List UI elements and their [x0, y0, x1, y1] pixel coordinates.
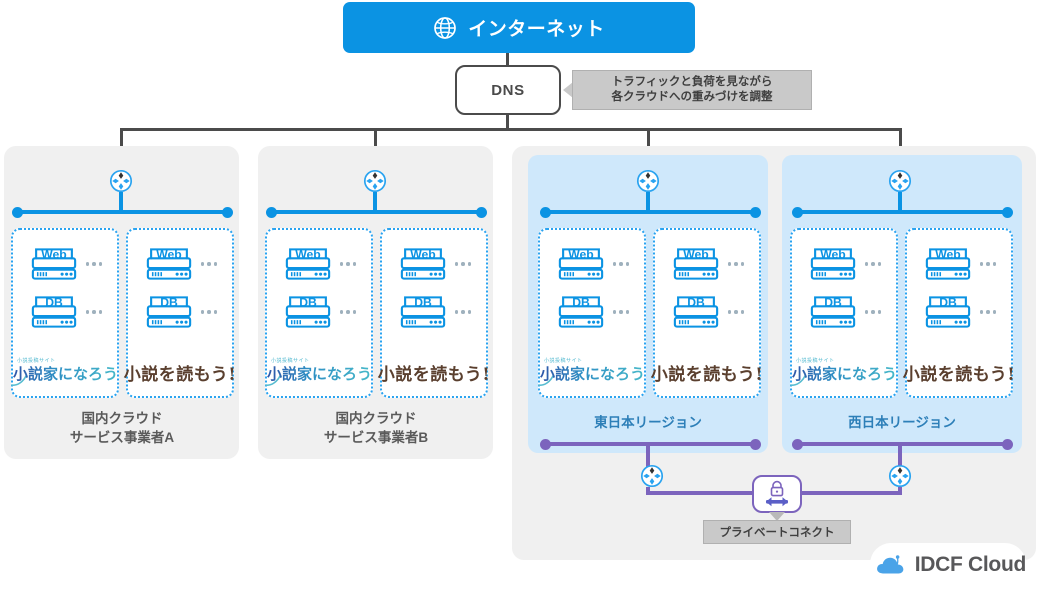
yomou-logo: 小説を読もう! [903, 360, 1015, 385]
web-server-icon: Web [28, 244, 80, 284]
svg-text:DB: DB [824, 295, 842, 309]
bus-endpoint [750, 207, 761, 218]
svg-text:DB: DB [414, 295, 432, 309]
service-card-narou-region-east: Web DB [538, 228, 646, 398]
narou-logo-sub: 小説投稿サイト [271, 357, 310, 364]
server-row-db: DB [555, 292, 630, 332]
lock-icon [772, 482, 783, 496]
load-balancer-icon [888, 169, 912, 193]
load-balancer-icon [640, 464, 664, 488]
yomou-logo: 小説を読もう! [378, 360, 490, 385]
server-row-web: Web [807, 244, 882, 284]
private-connect-label-box: プライベートコネクト [703, 520, 851, 544]
server-row-db: DB [397, 292, 472, 332]
provider-b-label-line1: 国内クラウド [268, 409, 484, 428]
server-ellipsis [86, 262, 103, 266]
server-row-web: Web [397, 244, 472, 284]
service-card-yomou-provider-a: Web DB 小説を読もう! [126, 228, 234, 398]
db-server-icon: DB [807, 292, 859, 332]
web-server-icon: Web [143, 244, 195, 284]
service-card-yomou-region-west: Web DB 小説を読もう! [905, 228, 1013, 398]
server-row-web: Web [670, 244, 745, 284]
callout-line-2: 各クラウドへの重みづけを調整 [612, 90, 773, 105]
server-ellipsis [201, 262, 218, 266]
bus-endpoint [1002, 439, 1013, 450]
bus-endpoint [266, 207, 277, 218]
diagram-canvas: インターネット DNS トラフィックと負荷を見ながら 各クラウドへの重みづけを調… [0, 0, 1040, 600]
idcf-cloud-logo: IDCF Cloud [876, 545, 1026, 585]
server-stack: Web DB [540, 244, 644, 332]
server-row-web: Web [922, 244, 997, 284]
server-row-web: Web [555, 244, 630, 284]
bus-endpoint [792, 207, 803, 218]
private-connect-label: プライベートコネクト [720, 524, 835, 540]
bus-endpoint [540, 207, 551, 218]
svg-text:Web: Web [683, 247, 708, 261]
db-server-icon: DB [670, 292, 722, 332]
load-balancer-icon [363, 169, 387, 193]
server-ellipsis [980, 262, 997, 266]
server-stack: Web DB [267, 244, 371, 332]
narou-logo: 小説投稿サイト 小説家になろう [267, 357, 371, 387]
private-connect-node [752, 475, 802, 513]
load-balancer-icon [636, 169, 660, 193]
svg-text:DB: DB [160, 295, 178, 309]
server-ellipsis [455, 262, 472, 266]
yomou-logo: 小説を読もう! [651, 360, 763, 385]
server-ellipsis [613, 310, 630, 314]
wire-distribution-bus [121, 128, 902, 131]
narou-logo: 小説投稿サイト 小説家になろう [13, 357, 117, 387]
server-row-db: DB [922, 292, 997, 332]
web-server-icon: Web [807, 244, 859, 284]
bus-endpoint [750, 439, 761, 450]
db-server-icon: DB [397, 292, 449, 332]
server-ellipsis [455, 310, 472, 314]
svg-text:Web: Web [156, 247, 181, 261]
yomou-logo: 小説を読もう! [124, 360, 236, 385]
server-row-db: DB [807, 292, 882, 332]
callout-line-1: トラフィックと負荷を見ながら [612, 75, 773, 90]
web-server-icon: Web [555, 244, 607, 284]
svg-text:Web: Web [820, 247, 845, 261]
internet-node: インターネット [343, 2, 695, 53]
narou-logo-main: 小説家になろう [267, 364, 371, 384]
db-server-icon: DB [922, 292, 974, 332]
server-row-web: Web [143, 244, 218, 284]
svg-text:Web: Web [41, 247, 66, 261]
cloud-icon [876, 550, 907, 580]
db-server-icon: DB [143, 292, 195, 332]
bidirectional-arrow-icon [766, 497, 788, 506]
bus-endpoint [540, 439, 551, 450]
svg-text:Web: Web [568, 247, 593, 261]
server-row-web: Web [28, 244, 103, 284]
server-ellipsis [865, 310, 882, 314]
server-ellipsis [980, 310, 997, 314]
web-server-icon: Web [397, 244, 449, 284]
provider-a-label-line1: 国内クラウド [14, 409, 230, 428]
narou-logo: 小説投稿サイト 小説家になろう [540, 357, 644, 387]
provider-b-label-line2: サービス事業者B [268, 428, 484, 447]
svg-text:DB: DB [45, 295, 63, 309]
narou-logo-sub: 小説投稿サイト [544, 357, 583, 364]
service-card-narou-provider-a: Web DB [11, 228, 119, 398]
svg-text:DB: DB [687, 295, 705, 309]
narou-logo-sub: 小説投稿サイト [17, 357, 56, 364]
bus-endpoint [1002, 207, 1013, 218]
service-card-narou-provider-b: Web DB [265, 228, 373, 398]
svg-text:Web: Web [295, 247, 320, 261]
dns-callout: トラフィックと負荷を見ながら 各クラウドへの重みづけを調整 [572, 70, 812, 110]
server-ellipsis [728, 262, 745, 266]
narou-logo: 小説投稿サイト 小説家になろう [792, 357, 896, 387]
globe-icon [433, 16, 457, 40]
svg-text:DB: DB [572, 295, 590, 309]
server-ellipsis [865, 262, 882, 266]
svg-text:Web: Web [410, 247, 435, 261]
server-row-web: Web [282, 244, 357, 284]
server-ellipsis [728, 310, 745, 314]
db-server-icon: DB [282, 292, 334, 332]
server-row-db: DB [143, 292, 218, 332]
region-west-label: 西日本リージョン [794, 413, 1010, 432]
db-server-icon: DB [28, 292, 80, 332]
server-ellipsis [340, 262, 357, 266]
svg-text:Web: Web [935, 247, 960, 261]
service-card-yomou-provider-b: Web DB 小説を読もう! [380, 228, 488, 398]
load-balancer-icon [888, 464, 912, 488]
server-row-db: DB [670, 292, 745, 332]
server-stack: Web DB [13, 244, 117, 332]
server-stack: Web DB [907, 244, 1011, 332]
server-row-db: DB [282, 292, 357, 332]
server-stack: Web DB [655, 244, 759, 332]
private-connect-glyph [754, 477, 800, 511]
narou-logo-main: 小説家になろう [792, 364, 896, 384]
server-ellipsis [86, 310, 103, 314]
svg-text:DB: DB [939, 295, 957, 309]
web-server-icon: Web [670, 244, 722, 284]
load-balancer-icon [109, 169, 133, 193]
bus-endpoint [222, 207, 233, 218]
server-stack: Web DB [792, 244, 896, 332]
service-card-yomou-region-east: Web DB 小説を読もう! [653, 228, 761, 398]
server-row-db: DB [28, 292, 103, 332]
provider-a-label: 国内クラウド サービス事業者A [14, 409, 230, 447]
dns-label: DNS [491, 82, 524, 99]
bus-endpoint [12, 207, 23, 218]
service-card-narou-region-west: Web DB [790, 228, 898, 398]
narou-logo-sub: 小説投稿サイト [796, 357, 835, 364]
server-ellipsis [613, 262, 630, 266]
provider-b-label: 国内クラウド サービス事業者B [268, 409, 484, 447]
server-stack: Web DB [128, 244, 232, 332]
bus-endpoint [476, 207, 487, 218]
idcf-cloud-wordmark: IDCF Cloud [915, 553, 1026, 577]
narou-logo-main: 小説家になろう [13, 364, 117, 384]
server-stack: Web DB [382, 244, 486, 332]
db-server-icon: DB [555, 292, 607, 332]
web-server-icon: Web [922, 244, 974, 284]
server-ellipsis [201, 310, 218, 314]
dns-node: DNS [455, 65, 561, 115]
region-east-label: 東日本リージョン [540, 413, 756, 432]
svg-text:DB: DB [299, 295, 317, 309]
provider-a-label-line2: サービス事業者A [14, 428, 230, 447]
server-ellipsis [340, 310, 357, 314]
internet-label: インターネット [468, 14, 605, 41]
bus-endpoint [792, 439, 803, 450]
narou-logo-main: 小説家になろう [540, 364, 644, 384]
web-server-icon: Web [282, 244, 334, 284]
